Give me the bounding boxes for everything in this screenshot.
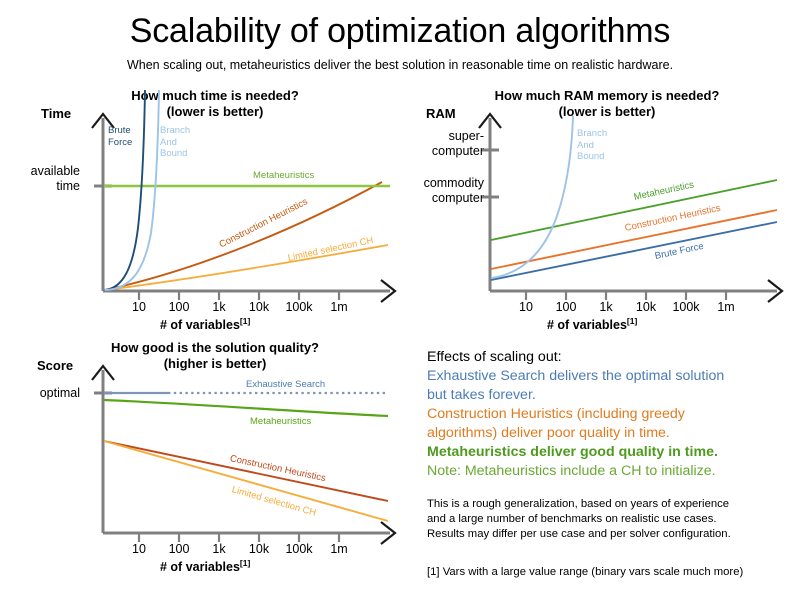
- score-label-exhaustive-search: Exhaustive Search: [246, 379, 325, 390]
- page-title: Scalability of optimization algorithms: [0, 12, 800, 51]
- footnote: [1] Vars with a large value range (binar…: [427, 566, 800, 578]
- score-chart-x-axis-label-sup: [1]: [240, 558, 250, 568]
- ram-label-branch-and-bound: BranchAndBound: [577, 128, 607, 163]
- time-series-brute-force: [105, 90, 145, 290]
- ram-series-construction-heuristics: [491, 210, 777, 269]
- time-chart-xtick-1: 100: [159, 300, 199, 314]
- score-series-limited-selection-ch: [104, 441, 388, 521]
- ram-chart-xtick-1: 100: [546, 300, 586, 314]
- time-chart-xtick-0: 10: [119, 300, 159, 314]
- effects-line-construction-2: algorithms) deliver poor quality in time…: [427, 424, 792, 443]
- ram-chart-xtick-4: 100k: [666, 300, 706, 314]
- score-chart-xtick-5: 1m: [319, 542, 359, 556]
- time-chart-xtick-4: 100k: [279, 300, 319, 314]
- ram-chart-xtick-0: 10: [506, 300, 546, 314]
- effects-panel: Effects of scaling out: Exhaustive Searc…: [427, 348, 792, 481]
- effects-line-note: Note: Metaheuristics include a CH to ini…: [427, 462, 792, 481]
- ram-chart-x-axis-label-sup: [1]: [627, 316, 637, 326]
- effects-line-exhaustive-1: Exhaustive Search delivers the optimal s…: [427, 367, 792, 386]
- score-chart-xtick-3: 10k: [239, 542, 279, 556]
- time-chart-x-axis-label-sup: [1]: [240, 316, 250, 326]
- ram-chart: How much RAM memory is needed? (lower is…: [412, 88, 797, 323]
- effects-line-exhaustive-2: but takes forever.: [427, 386, 792, 405]
- time-label-metaheuristics: Metaheuristics: [253, 170, 314, 181]
- time-chart: How much time is needed? (lower is bette…: [20, 88, 410, 323]
- time-chart-x-axis-label: # of variables[1]: [160, 316, 250, 332]
- time-chart-plot: [20, 88, 410, 323]
- score-chart-xtick-4: 100k: [279, 542, 319, 556]
- effects-line-construction-1: Construction Heuristics (including greed…: [427, 405, 792, 424]
- time-label-branch-and-bound: BranchAndBound: [160, 125, 190, 160]
- disclaimer-line-1: This is a rough generalization, based on…: [427, 497, 797, 512]
- ram-chart-plot: [412, 88, 797, 323]
- time-chart-axes: [92, 114, 395, 302]
- score-chart: How good is the solution quality? (highe…: [20, 336, 410, 581]
- ram-chart-xtick-3: 10k: [626, 300, 666, 314]
- score-chart-xtick-2: 1k: [199, 542, 239, 556]
- score-chart-x-axis-label-text: # of variables: [160, 560, 240, 574]
- effects-heading: Effects of scaling out:: [427, 348, 792, 367]
- page-subtitle: When scaling out, metaheuristics deliver…: [0, 58, 800, 72]
- ram-chart-x-axis-label: # of variables[1]: [547, 316, 637, 332]
- effects-line-metaheuristics: Metaheuristics deliver good quality in t…: [427, 443, 792, 462]
- ram-chart-x-axis-label-text: # of variables: [547, 318, 627, 332]
- time-chart-xtick-3: 10k: [239, 300, 279, 314]
- time-label-brute-force: BruteForce: [108, 125, 132, 148]
- disclaimer: This is a rough generalization, based on…: [427, 497, 797, 541]
- ram-chart-xtick-5: 1m: [706, 300, 746, 314]
- score-label-metaheuristics: Metaheuristics: [250, 416, 311, 427]
- time-chart-x-axis-label-text: # of variables: [160, 318, 240, 332]
- time-chart-xtick-5: 1m: [319, 300, 359, 314]
- score-chart-xtick-0: 10: [119, 542, 159, 556]
- ram-chart-xtick-2: 1k: [586, 300, 626, 314]
- disclaimer-line-2: and a large number of benchmarks on real…: [427, 512, 797, 527]
- score-chart-x-axis-label: # of variables[1]: [160, 558, 250, 574]
- time-chart-xtick-2: 1k: [199, 300, 239, 314]
- score-chart-xtick-1: 100: [159, 542, 199, 556]
- disclaimer-line-3: Results may differ per use case and per …: [427, 527, 797, 542]
- score-series-metaheuristics: [104, 400, 388, 416]
